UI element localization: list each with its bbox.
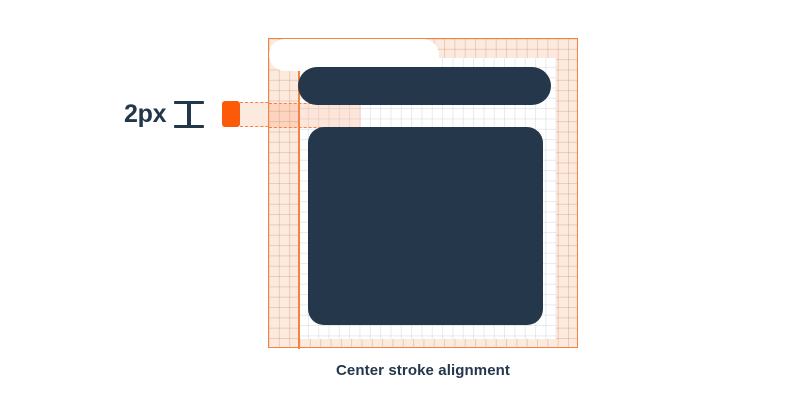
measurement-annotation: 2px [124, 96, 204, 132]
caliper-bottom-cap [174, 125, 204, 128]
stroke-color-swatch [222, 101, 240, 127]
icon-grid-artboard [268, 38, 578, 348]
caption-label: Center stroke alignment [268, 362, 578, 379]
caliper-stem [187, 103, 191, 126]
safe-area-grid-overlay [298, 58, 556, 339]
icon-safe-area [298, 58, 556, 339]
illustration-stage: 2px Center stroke alignment [0, 0, 800, 400]
i-beam-caliper-icon [174, 101, 204, 128]
measurement-value-label: 2px [124, 102, 166, 127]
